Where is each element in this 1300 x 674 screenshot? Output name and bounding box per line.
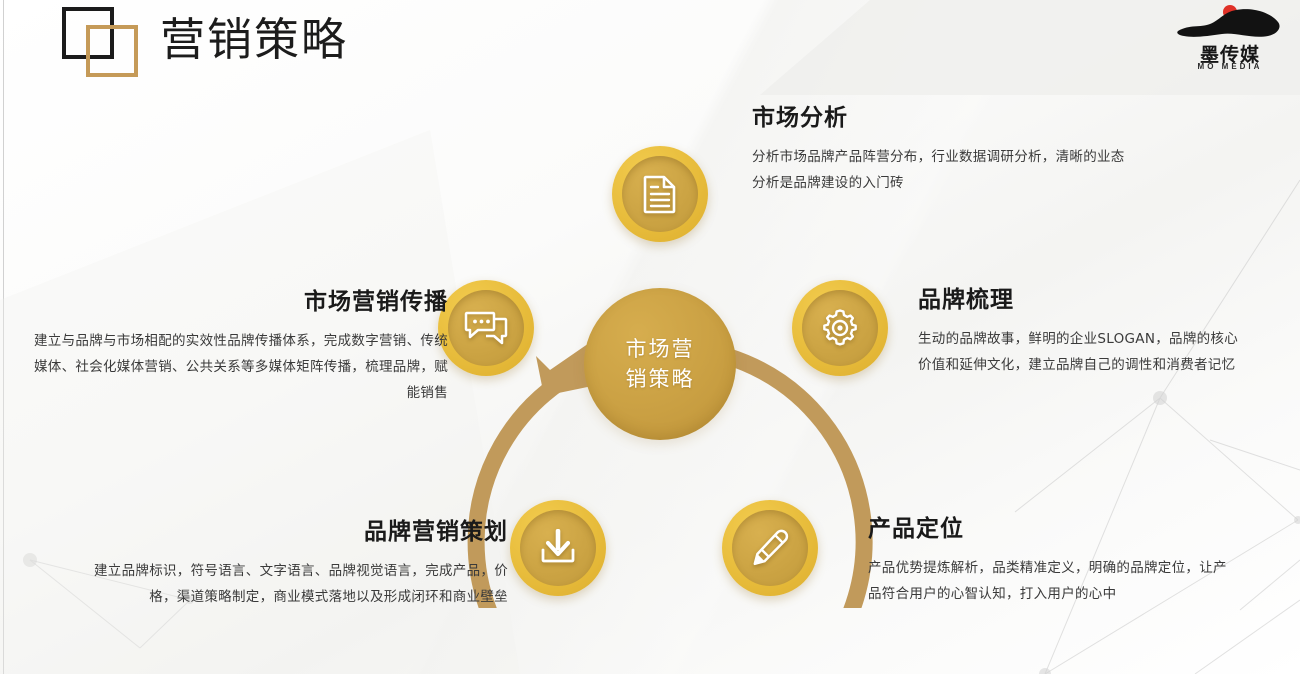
block-title: 市场营销传播 (30, 288, 448, 316)
node-market-analysis[interactable] (612, 146, 708, 242)
brand-name-en: MO MEDIA (1174, 62, 1286, 71)
square-outline-gold-icon (86, 25, 138, 77)
node-inner-disc (802, 290, 878, 366)
center-label-line2: 销策略 (626, 367, 695, 391)
gear-icon (819, 307, 861, 349)
block-body: 产品优势提炼解析，品类精准定义，明确的品牌定位，让产品符合用户的心智认知，打入用… (868, 555, 1238, 607)
block-body: 建立与品牌与市场相配的实效性品牌传播体系，完成数字营销、传统媒体、社会化媒体营销… (30, 328, 448, 406)
block-title: 产品定位 (868, 515, 1238, 543)
node-marketing-communication[interactable] (438, 280, 534, 376)
block-brand-planning: 品牌营销策划 建立品牌标识，符号语言、文字语言、品牌视觉语言，完成产品，价格，渠… (78, 518, 508, 610)
block-body: 生动的品牌故事，鲜明的企业SLOGAN，品牌的核心价值和延伸文化，建立品牌自己的… (918, 326, 1248, 378)
node-inner-disc (732, 510, 808, 586)
page-title: 营销策略 (160, 10, 348, 70)
block-title: 品牌营销策划 (78, 518, 508, 546)
slide-canvas: 营销策略 墨传媒 MO MEDIA 市场营 销策略 (0, 0, 1300, 674)
node-inner-disc (448, 290, 524, 366)
node-inner-disc (520, 510, 596, 586)
block-title: 市场分析 (752, 104, 1132, 132)
node-product-positioning[interactable] (722, 500, 818, 596)
download-icon (537, 529, 579, 567)
pencil-icon (750, 528, 790, 568)
block-marketing-communication: 市场营销传播 建立与品牌与市场相配的实效性品牌传播体系，完成数字营销、传统媒体、… (30, 288, 448, 406)
node-brand-planning[interactable] (510, 500, 606, 596)
block-body: 分析市场品牌产品阵营分布，行业数据调研分析，清晰的业态分析是品牌建设的入门砖 (752, 144, 1132, 196)
node-inner-disc (622, 156, 698, 232)
node-brand-combing[interactable] (792, 280, 888, 376)
chat-icon (464, 309, 508, 347)
center-label-line1: 市场营 (626, 337, 695, 361)
block-body: 建立品牌标识，符号语言、文字语言、品牌视觉语言，完成产品，价格，渠道策略制定，商… (78, 558, 508, 610)
squares-logo-icon (62, 7, 148, 79)
block-brand-combing: 品牌梳理 生动的品牌故事，鲜明的企业SLOGAN，品牌的核心价值和延伸文化，建立… (918, 286, 1248, 378)
document-icon (642, 174, 678, 214)
ink-brush-icon (1174, 4, 1286, 44)
block-market-analysis: 市场分析 分析市场品牌产品阵营分布，行业数据调研分析，清晰的业态分析是品牌建设的… (752, 104, 1132, 196)
center-circle: 市场营 销策略 (584, 288, 736, 440)
block-title: 品牌梳理 (918, 286, 1248, 314)
center-label: 市场营 销策略 (626, 334, 695, 394)
brand-logo: 墨传媒 MO MEDIA (1174, 4, 1286, 76)
slide-header: 营销策略 墨传媒 MO MEDIA (0, 0, 1300, 92)
block-product-positioning: 产品定位 产品优势提炼解析，品类精准定义，明确的品牌定位，让产品符合用户的心智认… (868, 515, 1238, 607)
